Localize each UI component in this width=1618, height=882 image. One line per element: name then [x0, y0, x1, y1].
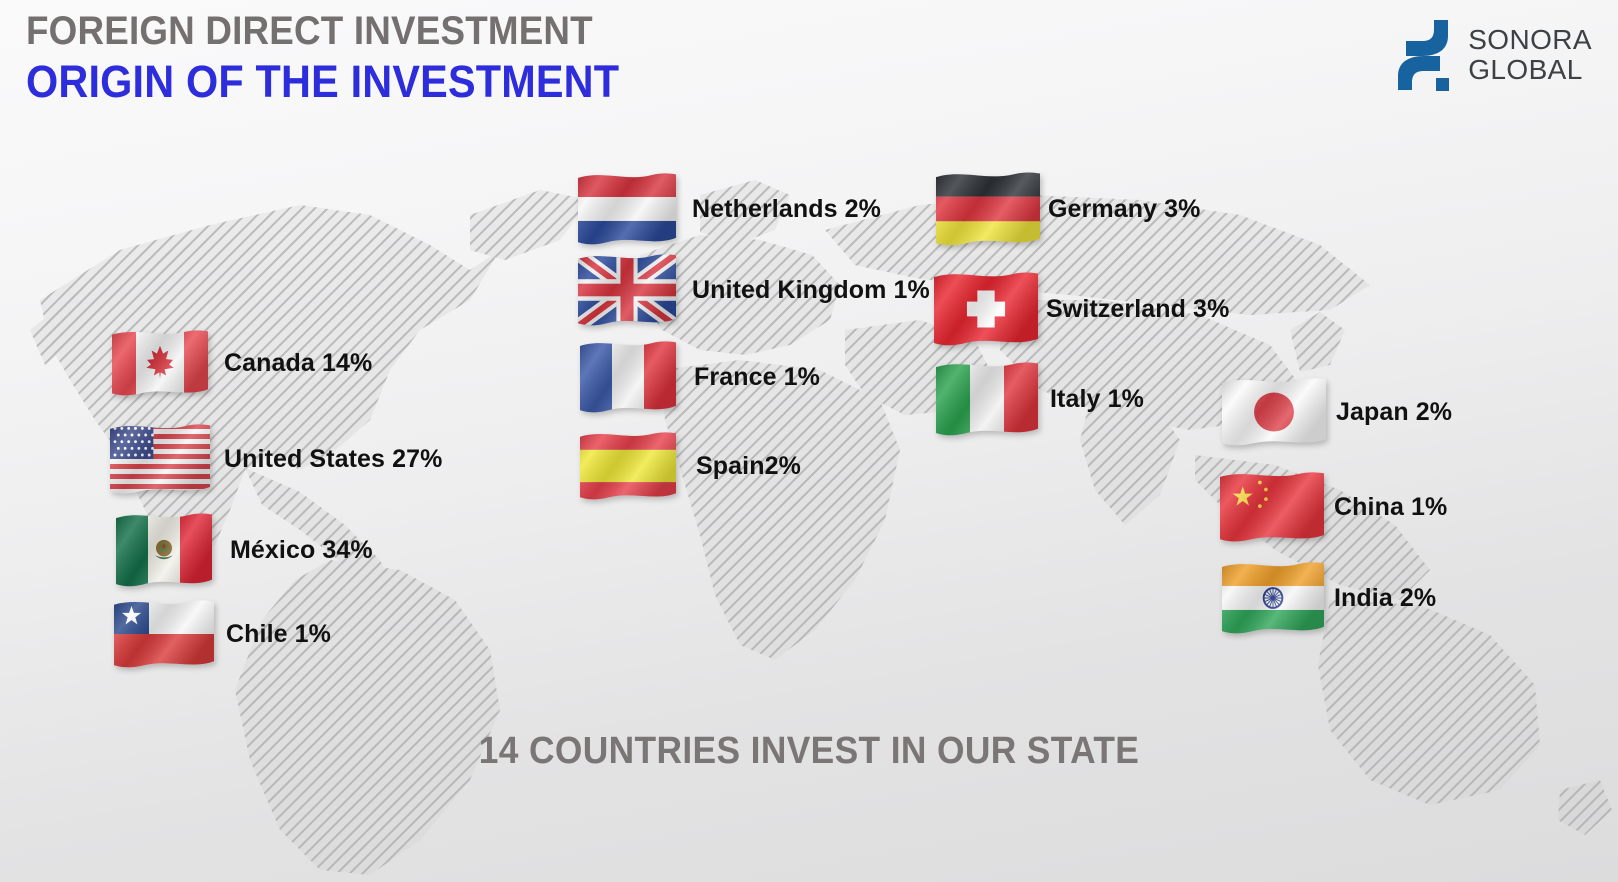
country-label-chile: Chile 1% — [226, 620, 331, 649]
switzerland-flag — [934, 272, 1038, 346]
germany-flag — [936, 172, 1040, 246]
country-entry-switzerland: Switzerland 3% — [934, 272, 1229, 346]
canada-flag — [112, 330, 208, 396]
country-label-germany: Germany 3% — [1048, 195, 1200, 224]
united-states-flag — [110, 424, 210, 494]
country-entry-italy: Italy 1% — [936, 362, 1144, 436]
footer-caption: 14 COUNTRIES INVEST IN OUR STATE — [57, 730, 1562, 773]
country-entry-chile: Chile 1% — [114, 600, 331, 668]
country-label-spain: Spain2% — [696, 452, 801, 481]
sonora-s-mark-icon — [1392, 16, 1454, 94]
page-subtitle: FOREIGN DIRECT INVESTMENT — [26, 10, 619, 52]
infographic-canvas: FOREIGN DIRECT INVESTMENT ORIGIN OF THE … — [0, 0, 1618, 882]
country-entry-united-states: United States 27% — [110, 424, 442, 494]
logo-line-1: SONORA — [1468, 25, 1592, 55]
country-label-china: China 1% — [1334, 493, 1447, 522]
country-label-united-states: United States 27% — [224, 445, 442, 474]
logo-line-2: GLOBAL — [1468, 55, 1592, 85]
country-entry-india: India 2% — [1222, 562, 1436, 634]
india-flag — [1222, 562, 1324, 634]
country-entry-mexico: México 34% — [116, 513, 373, 587]
country-label-canada: Canada 14% — [224, 349, 372, 378]
country-entry-spain: Spain2% — [580, 432, 801, 500]
country-entry-united-kingdom: United Kingdom 1% — [578, 254, 930, 326]
country-entry-china: China 1% — [1220, 472, 1447, 542]
logo-wordmark: SONORA GLOBAL — [1468, 25, 1592, 84]
country-label-italy: Italy 1% — [1050, 385, 1144, 414]
header-block: FOREIGN DIRECT INVESTMENT ORIGIN OF THE … — [26, 10, 671, 105]
country-entry-germany: Germany 3% — [936, 172, 1200, 246]
country-entry-france: France 1% — [580, 341, 820, 413]
country-label-netherlands: Netherlands 2% — [692, 195, 881, 224]
united-kingdom-flag — [578, 254, 676, 326]
page-title: ORIGIN OF THE INVESTMENT — [26, 58, 619, 105]
sonora-global-logo[interactable]: SONORA GLOBAL — [1392, 16, 1592, 94]
country-label-france: France 1% — [694, 363, 820, 392]
japan-flag — [1222, 378, 1326, 446]
country-label-switzerland: Switzerland 3% — [1046, 295, 1229, 324]
country-label-india: India 2% — [1334, 584, 1436, 613]
china-flag — [1220, 472, 1324, 542]
country-entry-japan: Japan 2% — [1222, 378, 1452, 446]
spain-flag — [580, 432, 676, 500]
country-entry-netherlands: Netherlands 2% — [578, 173, 881, 245]
italy-flag — [936, 362, 1038, 436]
mexico-flag — [116, 513, 212, 587]
country-label-united-kingdom: United Kingdom 1% — [692, 276, 930, 305]
chile-flag — [114, 600, 214, 668]
netherlands-flag — [578, 173, 676, 245]
france-flag — [580, 341, 676, 413]
country-label-japan: Japan 2% — [1336, 398, 1452, 427]
country-entry-canada: Canada 14% — [112, 330, 372, 396]
country-label-mexico: México 34% — [230, 536, 373, 565]
